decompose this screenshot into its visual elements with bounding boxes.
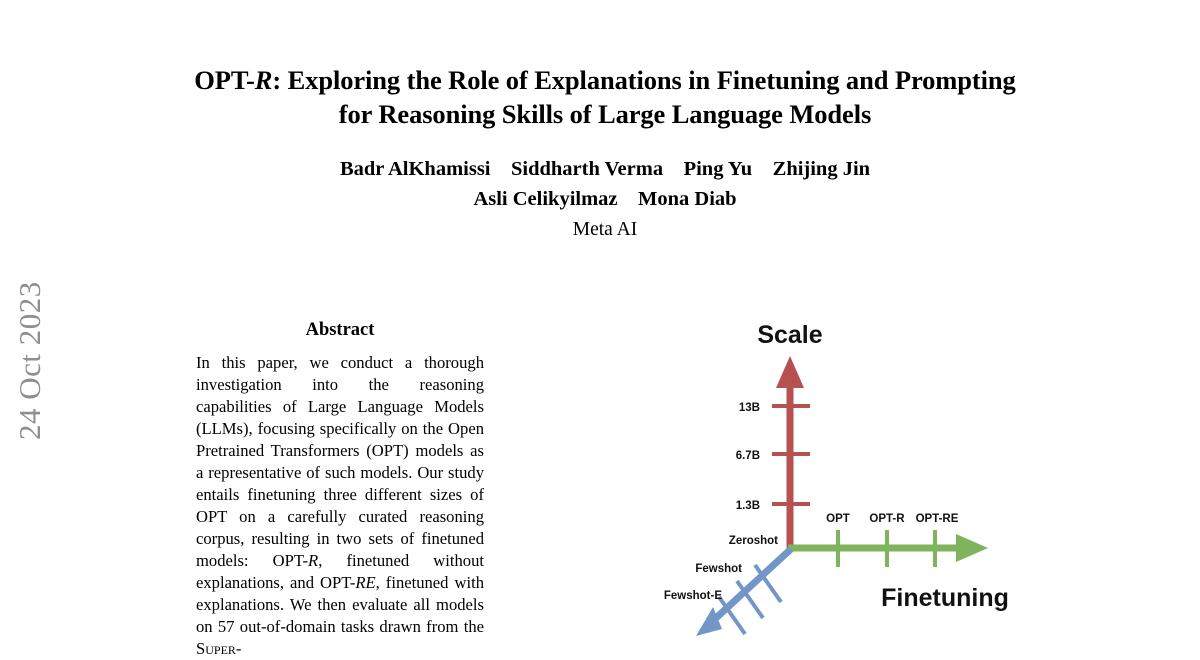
title-line1-italic: R [255,65,273,95]
abstract-seg-4: - [236,639,242,658]
title-line1-post: : Exploring the Role of Explanations in … [272,65,1015,95]
scale-axis-arrowhead [776,356,804,388]
arxiv-date-stamp: 24 Oct 2023 [0,160,60,440]
prompting-tick-label-fewshot: Fewshot [695,563,742,575]
author-row-2: Asli Celikyilmaz Mona Diab [140,185,1070,215]
scale-tick-label-6p7b: 6.7B [736,450,760,462]
abstract-heading: Abstract [196,320,484,341]
title-line2: for Reasoning Skills of Large Language M… [339,99,871,129]
page-title: OPT-R: Exploring the Role of Explanation… [140,64,1070,132]
scale-tick-label-13b: 13B [739,402,760,414]
design-space-figure: 1.3B 6.7B 13B Scale OPT OPT-R OPT-RE Fin… [600,318,1120,648]
authors-block: Badr AlKhamissi Siddharth Verma Ping Yu … [140,155,1070,245]
prompting-tick-label-zeroshot: Zeroshot [729,535,778,547]
affiliation: Meta AI [140,216,1070,244]
prompting-axis-group: Zeroshot Fewshot Fewshot-E [664,535,791,636]
abstract-italic-re: RE [355,573,375,592]
abstract-body: In this paper, we conduct a thorough inv… [196,352,484,660]
abstract-column: Abstract In this paper, we conduct a tho… [196,320,484,660]
finetuning-tick-label-optr: OPT-R [869,513,905,525]
arxiv-date-text: 24 Oct 2023 [12,281,48,440]
scale-tick-label-1p3b: 1.3B [736,500,760,512]
finetuning-axis-arrowhead [956,534,988,562]
title-block: OPT-R: Exploring the Role of Explanation… [140,46,1070,149]
prompting-tick-label-fewshot-e: Fewshot-E [664,590,722,602]
abstract-seg-1: In this paper, we conduct a thorough inv… [196,353,484,570]
finetuning-axis-group: OPT OPT-R OPT-RE Finetuning [788,513,1009,612]
abstract-italic-r: R [308,551,318,570]
finetuning-axis-title: Finetuning [881,584,1009,612]
title-line1-pre: OPT- [194,65,254,95]
finetuning-tick-label-optre: OPT-RE [916,513,959,525]
abstract-smallcaps-super: Super [196,639,236,658]
scale-axis-group: 1.3B 6.7B 13B Scale [736,321,823,548]
author-row-1: Badr AlKhamissi Siddharth Verma Ping Yu … [140,155,1070,185]
design-space-svg: 1.3B 6.7B 13B Scale OPT OPT-R OPT-RE Fin… [600,318,1120,648]
scale-axis-title: Scale [757,321,822,349]
finetuning-tick-label-opt: OPT [826,513,850,525]
